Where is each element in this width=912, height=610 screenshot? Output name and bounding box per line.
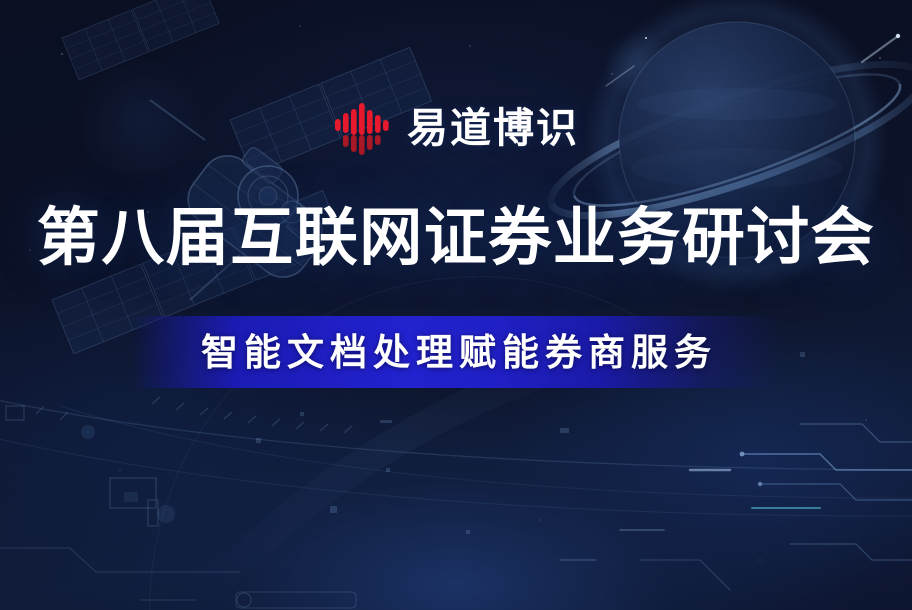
subtitle-text: 智能文档处理赋能券商服务 (195, 334, 717, 371)
brand-name: 易道博识 (407, 108, 579, 149)
page-title: 第八届互联网证券业务研讨会 (37, 207, 876, 270)
poster-content: 易道博识 第八届互联网证券业务研讨会 (0, 0, 912, 610)
conference-poster: 易道博识 第八届互联网证券业务研讨会 智能文档处理赋能券商服务 (0, 0, 912, 610)
brand-lockup: 易道博识 (333, 97, 579, 159)
audio-bars-logo-icon (333, 99, 391, 157)
subtitle-banner: 智能文档处理赋能券商服务 (132, 316, 780, 388)
